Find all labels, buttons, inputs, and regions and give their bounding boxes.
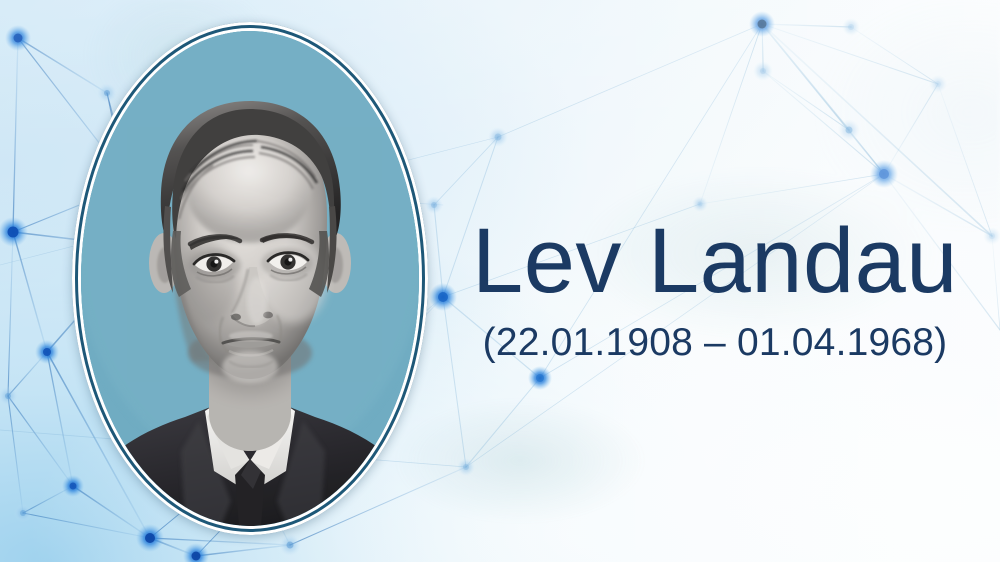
portrait-oval-frame [72, 22, 428, 535]
title-block: Lev Landau (22.01.1908 – 01.04.1968) [455, 215, 975, 362]
page-title: Lev Landau [455, 215, 975, 307]
life-dates: (22.01.1908 – 01.04.1968) [455, 323, 975, 362]
portrait-frame-rings [72, 22, 428, 535]
portrait-teal-backdrop [81, 31, 419, 526]
portrait-photo [81, 31, 419, 526]
presentation-slide: Lev Landau (22.01.1908 – 01.04.1968) [0, 0, 1000, 562]
